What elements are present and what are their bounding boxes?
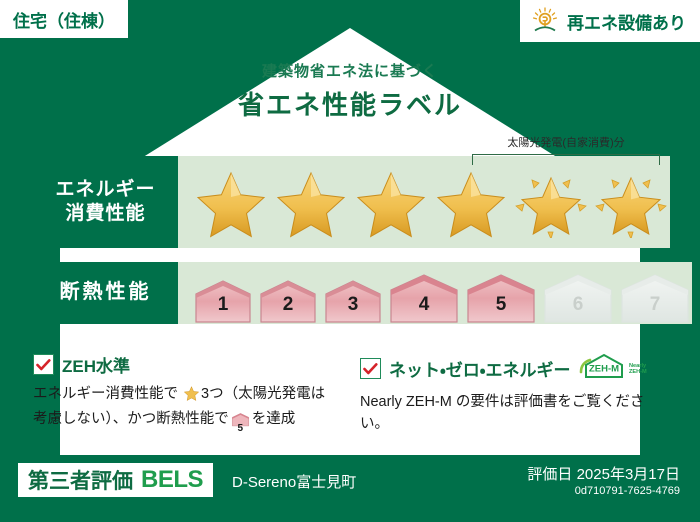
category-tag-label: 住宅（住棟） (13, 7, 115, 32)
criteria-zeh-standard: ZEH水準 エネルギー消費性能で 3つ（太陽光発電は考慮しない）、かつ断熱性能で… (33, 352, 333, 435)
grade-badge-inline-value: 5 (231, 424, 250, 434)
energy-performance-row: エネルギー 消費性能 太陽光発電(自家消費)分 (33, 156, 667, 248)
grade-badge-3: 3 (322, 278, 384, 324)
insulation-key-label: 断熱性能 (60, 280, 152, 306)
criteria-left-header: ZEH水準 (33, 352, 333, 377)
category-tag: 住宅（住棟） (0, 0, 128, 38)
insulation-grade-scale: 1 2 3 (178, 262, 692, 324)
grade-value: 2 (257, 294, 319, 316)
insulation-performance-row: 断熱性能 1 (33, 262, 667, 324)
checkbox-checked-icon (33, 354, 54, 375)
grade-value: 5 (464, 294, 538, 316)
criteria-left-body-part1: エネルギー消費性能で (33, 386, 178, 402)
renewable-badge-label: 再エネ設備あり (567, 9, 686, 34)
svg-text:ZEH-M: ZEH-M (629, 369, 647, 375)
footer-bar: 第三者評価 BELS D-Sereno富士見町 評価日 2025年3月17日 0… (0, 455, 700, 522)
grade-badge-2: 2 (257, 278, 319, 324)
criteria-right-header: ネット・ゼロ・エネルギー ZEH-M Nearly ZEH-M (360, 352, 660, 385)
criteria-left-title: ZEH水準 (62, 352, 130, 377)
title-subtitle: 建築物省エネ法に基づく (0, 60, 700, 81)
renewable-equipment-badge: 再エネ設備あり (520, 0, 700, 42)
page-title: 省エネ性能ラベル (0, 85, 700, 122)
grade-badge-1: 1 (192, 278, 254, 324)
grade-value: 7 (618, 294, 692, 316)
criteria-net-zero-energy: ネット・ゼロ・エネルギー ZEH-M Nearly ZEH-M Nearly Z… (360, 352, 660, 436)
grade-badge-5: 5 (464, 272, 538, 324)
star-rating (178, 166, 670, 238)
energy-performance-value: 太陽光発電(自家消費)分 (178, 156, 670, 248)
star-icon (352, 166, 430, 238)
grade-badge-4: 4 (387, 272, 461, 324)
energy-key-line2: 消費性能 (65, 202, 145, 226)
evaluation-id: 0d710791-7625-4769 (575, 485, 680, 497)
bels-certification-box: 第三者評価 BELS (18, 463, 213, 497)
criteria-right-body: Nearly ZEH-M の要件は評価書をご覧ください。 (360, 391, 660, 436)
zeh-m-logo-icon: ZEH-M Nearly ZEH-M (577, 352, 653, 385)
star-icon (432, 166, 510, 238)
star-icon (192, 166, 270, 238)
grade-value: 3 (322, 294, 384, 316)
energy-performance-label: 住宅（住棟） 再エネ設備あり 建築 (0, 0, 700, 522)
title-block: 建築物省エネ法に基づく 省エネ性能ラベル (0, 60, 700, 122)
grade-value: 6 (541, 294, 615, 316)
insulation-performance-label-box: 断熱性能 (33, 262, 178, 324)
bels-jp-label: 第三者評価 (28, 465, 133, 495)
energy-key-line1: エネルギー (55, 178, 155, 202)
evaluation-date: 評価日 2025年3月17日 (527, 463, 680, 484)
bels-en-label: BELS (141, 466, 203, 494)
solar-note-text: 太陽光発電(自家消費)分 (468, 138, 664, 149)
checkbox-checked-icon (360, 358, 381, 379)
building-name: D-Sereno富士見町 (232, 471, 356, 492)
grade-badge-7: 7 (618, 272, 692, 324)
energy-performance-label-box: エネルギー 消費性能 (33, 156, 178, 248)
solar-bracket (472, 154, 660, 165)
star-icon-solar (592, 166, 670, 238)
criteria-right-title: ネット・ゼロ・エネルギー (389, 356, 571, 381)
star-icon-inline (179, 389, 200, 405)
svg-text:ZEH-M: ZEH-M (589, 364, 619, 375)
grade-badge-6: 6 (541, 272, 615, 324)
grade-value: 1 (192, 294, 254, 316)
grade-value: 4 (387, 294, 461, 316)
star-icon-solar (512, 166, 590, 238)
criteria-left-body: エネルギー消費性能で 3つ（太陽光発電は考慮しない）、かつ断熱性能で 5を達成 (33, 383, 333, 435)
criteria-left-body-part3: を達成 (252, 411, 296, 427)
solar-sun-icon (530, 6, 560, 36)
insulation-performance-value: 1 2 3 (178, 262, 692, 324)
solar-generation-note: 太陽光発電(自家消費)分 (468, 138, 664, 149)
grade-badge-inline: 5 (231, 412, 250, 434)
star-icon (272, 166, 350, 238)
